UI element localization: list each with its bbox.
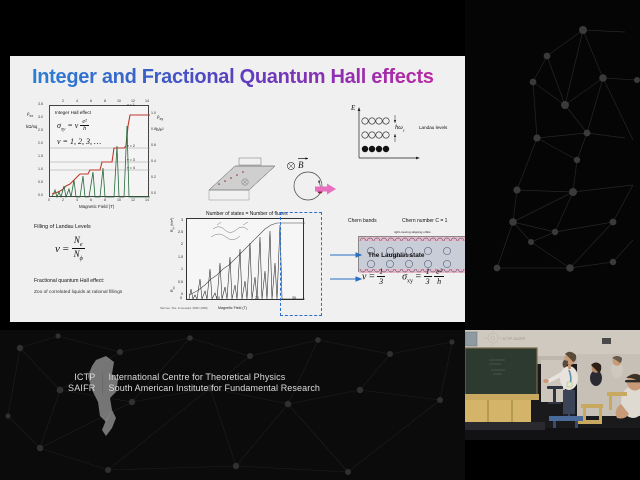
landau-levels-diagram: E ħωc Landau levels: [345, 104, 460, 166]
hall-bar-sketch: [205, 156, 279, 208]
lecture-hall-scene: ICTP-SAIFR: [465, 330, 640, 440]
constellation-graphic: [465, 0, 640, 330]
b-field-label: B: [298, 160, 304, 170]
iqhe-xtick: 0: [48, 198, 50, 202]
skipping-orbits-note: right-moving skipping orbits: [394, 230, 431, 234]
iqhe-yunit-right: h/e²: [156, 127, 164, 132]
fqhe-xtick: 10: [216, 296, 220, 300]
fqhe-highlight-box: [280, 212, 322, 316]
iqhe-ytick-right: 0.2: [151, 175, 156, 179]
iqhe-xtick: 4: [76, 198, 78, 202]
iqhe-ytick: 0.5: [38, 180, 43, 184]
iqhe-xlabel: Magnetic Field (T): [79, 204, 114, 209]
fqhe-credit: Stormer, Tsui, & Gossard, RMP (1999): [160, 306, 208, 310]
laughlin-formulas: ν = 13 σxy = 13 e²h: [362, 268, 444, 287]
iqhe-plateau-label: ν = 4: [127, 166, 135, 170]
banner-fullname-line2: South American Institute for Fundamental…: [109, 383, 321, 394]
banner-fullname-line1: International Centre for Theoretical Phy…: [109, 372, 321, 383]
slide-title: Integer and Fractional Quantum Hall effe…: [32, 66, 452, 89]
iqhe-xtick-top: 4: [76, 99, 78, 103]
iqhe-xtick: 10: [117, 198, 121, 202]
iqhe-yunit: kΩ/sq: [26, 124, 37, 129]
iqhe-plateau-label: ν = 3: [127, 158, 135, 162]
banner-acronym: ICTP SAIFR: [68, 372, 102, 394]
fqhe-xtick: 20: [255, 296, 259, 300]
iqhe-xtick: 2: [62, 198, 64, 202]
fqhe-ytick: 3: [181, 218, 183, 222]
iqhe-xtick-top: 10: [117, 99, 121, 103]
presentation-slide: Integer and Fractional Quantum Hall effe…: [10, 56, 465, 322]
banner-text-group: ICTP SAIFR International Centre for Theo…: [68, 372, 320, 394]
fqhe-ytick: 1: [181, 267, 183, 271]
laughlin-heading: The Laughlin state: [368, 252, 424, 259]
iqhe-xtick-top: 14: [145, 99, 149, 103]
fqhe-heading: Fractional quantum Hall effect:: [34, 278, 104, 284]
iqhe-ytick-right: 1.0: [151, 111, 156, 115]
chern-bands-label: Chern bands: [348, 218, 377, 224]
ictp-saifr-banner: ICTP SAIFR International Centre for Theo…: [0, 330, 465, 480]
filling-heading: Filling of Landau Levels: [34, 224, 91, 230]
iqhe-ytick: 3.5: [38, 102, 43, 106]
banner-acronym-ictp: ICTP: [68, 372, 96, 383]
landau-levels-svg: E: [345, 104, 460, 166]
iqhe-xtick: 6: [90, 198, 92, 202]
fqhe-ytick: 1.5: [178, 255, 183, 259]
laughlin-arrow-icon-2: [330, 274, 362, 284]
iqhe-xtick: 8: [104, 198, 106, 202]
fqhe-ytick: 0: [181, 292, 183, 296]
network-graphic-panel: [465, 0, 640, 330]
iqhe-ylabel-rho-xx: ρxx: [27, 111, 33, 118]
filling-formula: ν = Ne Nϕ: [55, 236, 85, 263]
fqhe-ytick: 2.5: [178, 230, 183, 234]
iqhe-plateau-label: ν = 1: [127, 103, 135, 107]
banner-acronym-saifr: SAIFR: [68, 383, 96, 394]
iqhe-ytick: 2.0: [38, 141, 43, 145]
fqhe-ytick: 0.5: [178, 280, 183, 284]
iqhe-ytick-right: 0.6: [151, 143, 156, 147]
iqhe-plateau-label: ν = 2: [127, 144, 135, 148]
iqhe-xtick: 12: [131, 198, 135, 202]
energy-axis-label: E: [350, 104, 356, 112]
fqhe-xlabel: Magnetic Field (T): [218, 306, 247, 310]
iqhe-sigma-formula: σxy = ν e²h: [57, 119, 89, 133]
iqhe-xtick-top: 6: [90, 99, 92, 103]
banner-network-bg: [0, 330, 465, 480]
iqhe-xtick-top: 8: [104, 99, 106, 103]
iqhe-ytick-right: 0.0: [151, 191, 156, 195]
fqhe-subheading: Zoo of correlated liquids at rational fi…: [34, 290, 122, 295]
banner-fullname: International Centre for Theoretical Phy…: [103, 372, 321, 394]
cyclotron-orbit-sketch: B: [282, 156, 338, 208]
iqhe-inplot-title: Integer Hall effect: [55, 110, 91, 115]
fqhe-xtick: 0: [180, 296, 182, 300]
iqhe-ytick-right: 0.4: [151, 159, 156, 163]
pink-arrow-icon: [315, 183, 337, 195]
iqhe-chart: ρxx kΩ/sq ρxy h/e² Magnetic Field (T) 3.…: [27, 99, 174, 212]
landau-levels-caption: Landau levels: [419, 125, 447, 130]
iqhe-xtick-top: 2: [62, 99, 64, 103]
fqhe-ylabel2: Rxx: [170, 286, 176, 292]
svg-text:ICTP-SAIFR: ICTP-SAIFR: [503, 336, 525, 341]
laughlin-arrow-icon: [330, 250, 362, 260]
iqhe-ytick: 1.0: [38, 167, 43, 171]
iqhe-ytick: 0.0: [38, 193, 43, 197]
iqhe-nu-list: ν = 1, 2, 3, …: [57, 137, 101, 146]
fqhe-ytick: 2: [181, 242, 183, 246]
chern-number-label: Chern number C = 1: [402, 218, 447, 224]
iqhe-ytick: 1.5: [38, 154, 43, 158]
hbar-omega-label: ħωc: [395, 124, 405, 132]
iqhe-ylabel-rho-xy: ρxy: [157, 114, 163, 121]
iqhe-ytick: 2.5: [38, 128, 43, 132]
fqhe-ylabel: RH (h/e²): [170, 218, 176, 232]
video-frame: Integer and Fractional Quantum Hall effe…: [0, 0, 640, 480]
speaker-webcam-feed: ICTP-SAIFR: [465, 330, 640, 440]
iqhe-xtick: 14: [145, 198, 149, 202]
iqhe-ytick-right: 0.8: [151, 127, 156, 131]
iqhe-ytick: 3.0: [38, 115, 43, 119]
